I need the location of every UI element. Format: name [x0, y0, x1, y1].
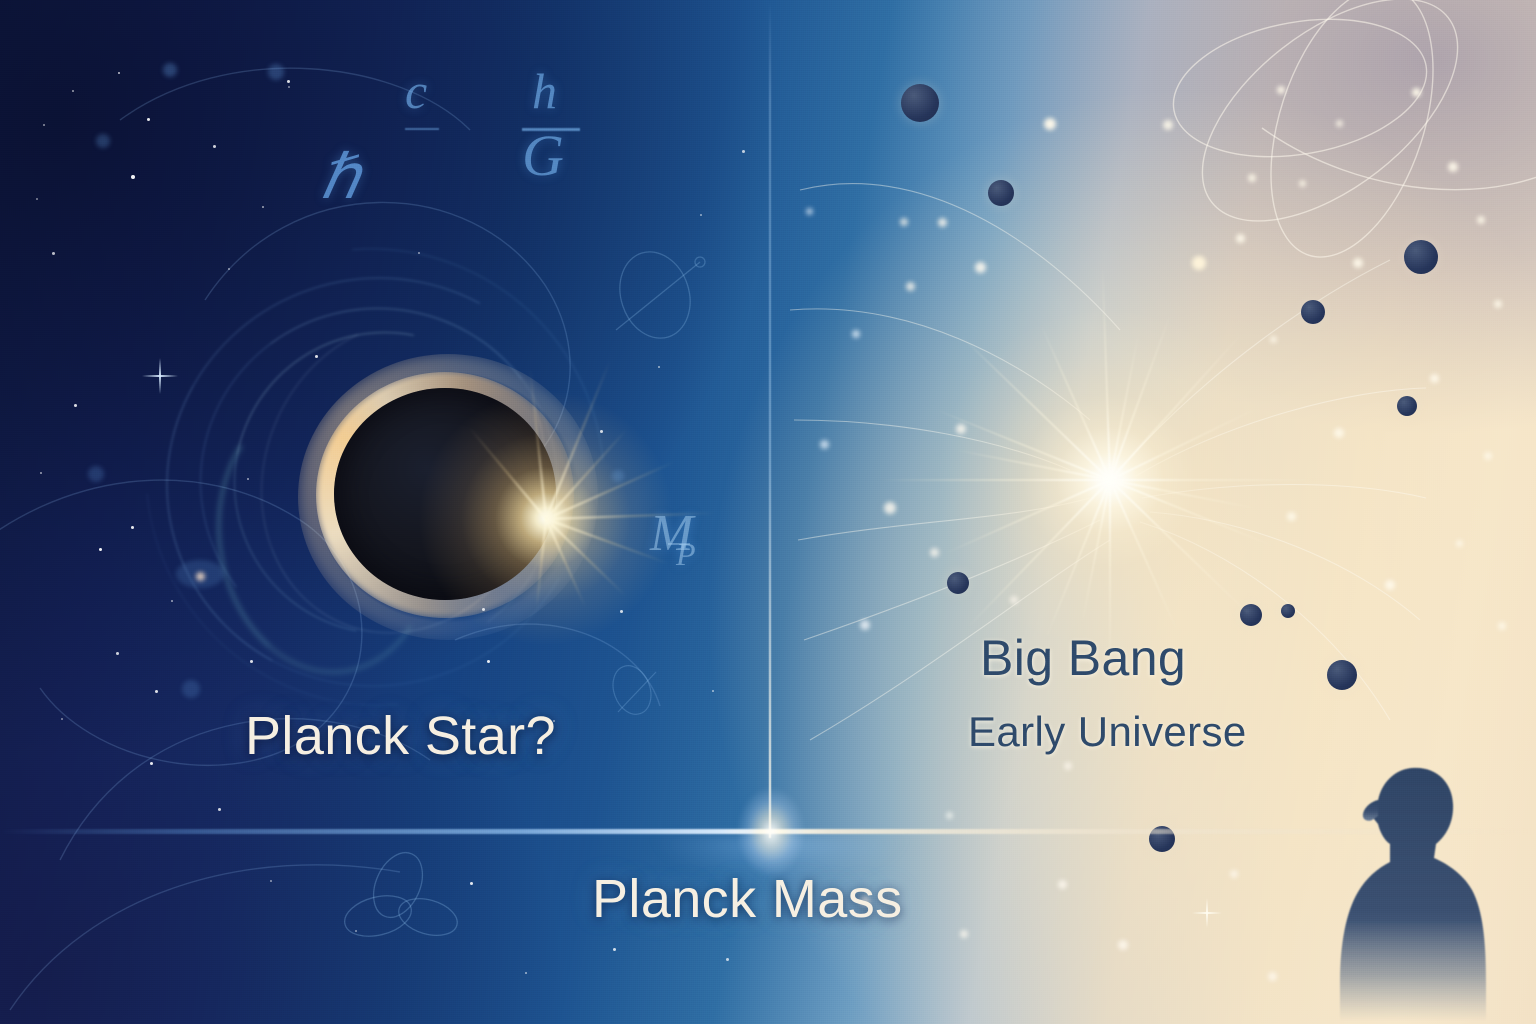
- illustration-canvas: c ℏ h G M P Planck Star? Planck Mass Big…: [0, 0, 1536, 1024]
- film-grain-overlay: [0, 0, 1536, 1024]
